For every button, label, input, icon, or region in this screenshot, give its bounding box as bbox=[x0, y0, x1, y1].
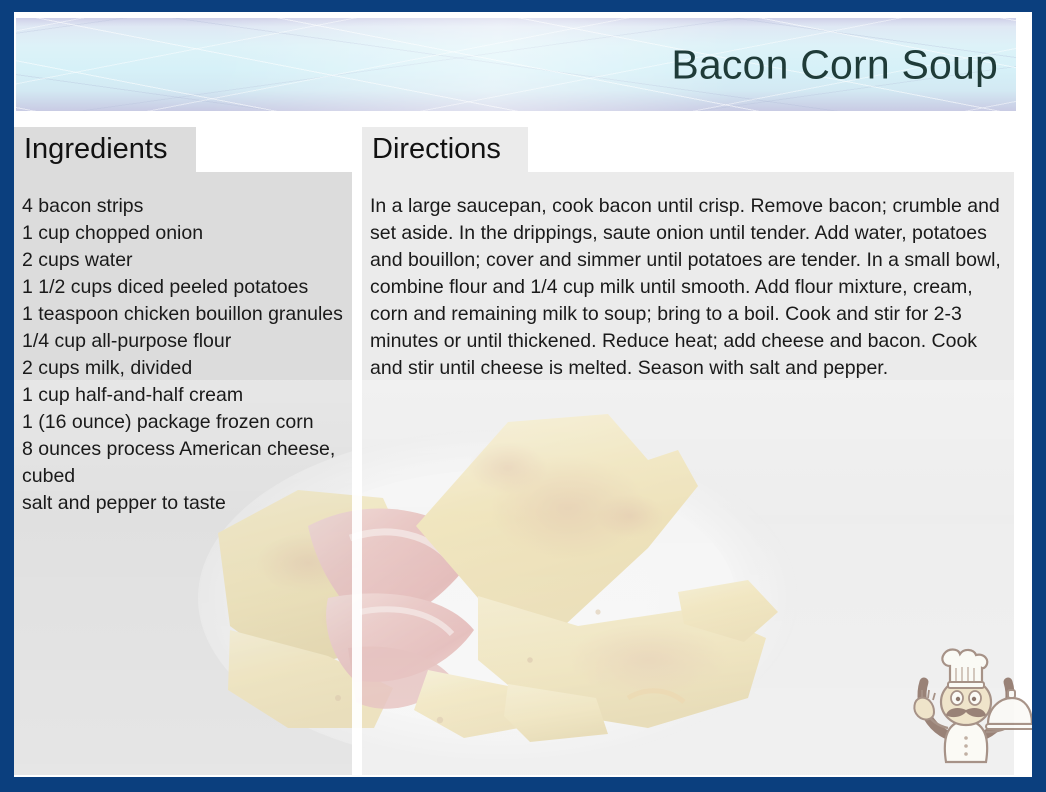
list-item: 4 bacon strips bbox=[22, 193, 352, 220]
directions-body-text: In a large saucepan, cook bacon until cr… bbox=[370, 193, 1010, 382]
list-item: 1 cup half-and-half cream bbox=[22, 382, 352, 409]
ingredients-tab-notch bbox=[196, 127, 352, 172]
list-item: 1 (16 ounce) package frozen corn bbox=[22, 409, 352, 436]
list-item: 8 ounces process American cheese, cubed bbox=[22, 436, 352, 490]
directions-tab-label: Directions bbox=[372, 135, 501, 164]
cloche-dome-icon bbox=[988, 698, 1032, 724]
list-item: 1/4 cup all-purpose flour bbox=[22, 328, 352, 355]
tab-directions[interactable]: Directions bbox=[362, 127, 528, 172]
directions-tab-notch bbox=[528, 127, 1014, 172]
ingredients-tab-label: Ingredients bbox=[24, 135, 168, 164]
list-item: 1 teaspoon chicken bouillon granules bbox=[22, 301, 352, 328]
list-item: 2 cups milk, divided bbox=[22, 355, 352, 382]
page-title: Bacon Corn Soup bbox=[671, 44, 998, 85]
list-item: 1 1/2 cups diced peeled potatoes bbox=[22, 274, 352, 301]
list-item: 2 cups water bbox=[22, 247, 352, 274]
chef-logo-icon bbox=[900, 640, 1032, 772]
header-banner: Bacon Corn Soup bbox=[16, 18, 1016, 111]
chef-toque-icon bbox=[942, 650, 987, 685]
recipe-card: Bacon Corn Soup Ingredients Directions bbox=[0, 0, 1046, 792]
tab-ingredients[interactable]: Ingredients bbox=[14, 127, 196, 172]
ingredients-list: 4 bacon strips 1 cup chopped onion 2 cup… bbox=[22, 193, 352, 517]
chef-hand-left bbox=[914, 698, 934, 720]
list-item: 1 cup chopped onion bbox=[22, 220, 352, 247]
panel-divider bbox=[352, 127, 362, 775]
list-item: salt and pepper to taste bbox=[22, 490, 352, 517]
cloche-knob bbox=[1008, 690, 1015, 698]
